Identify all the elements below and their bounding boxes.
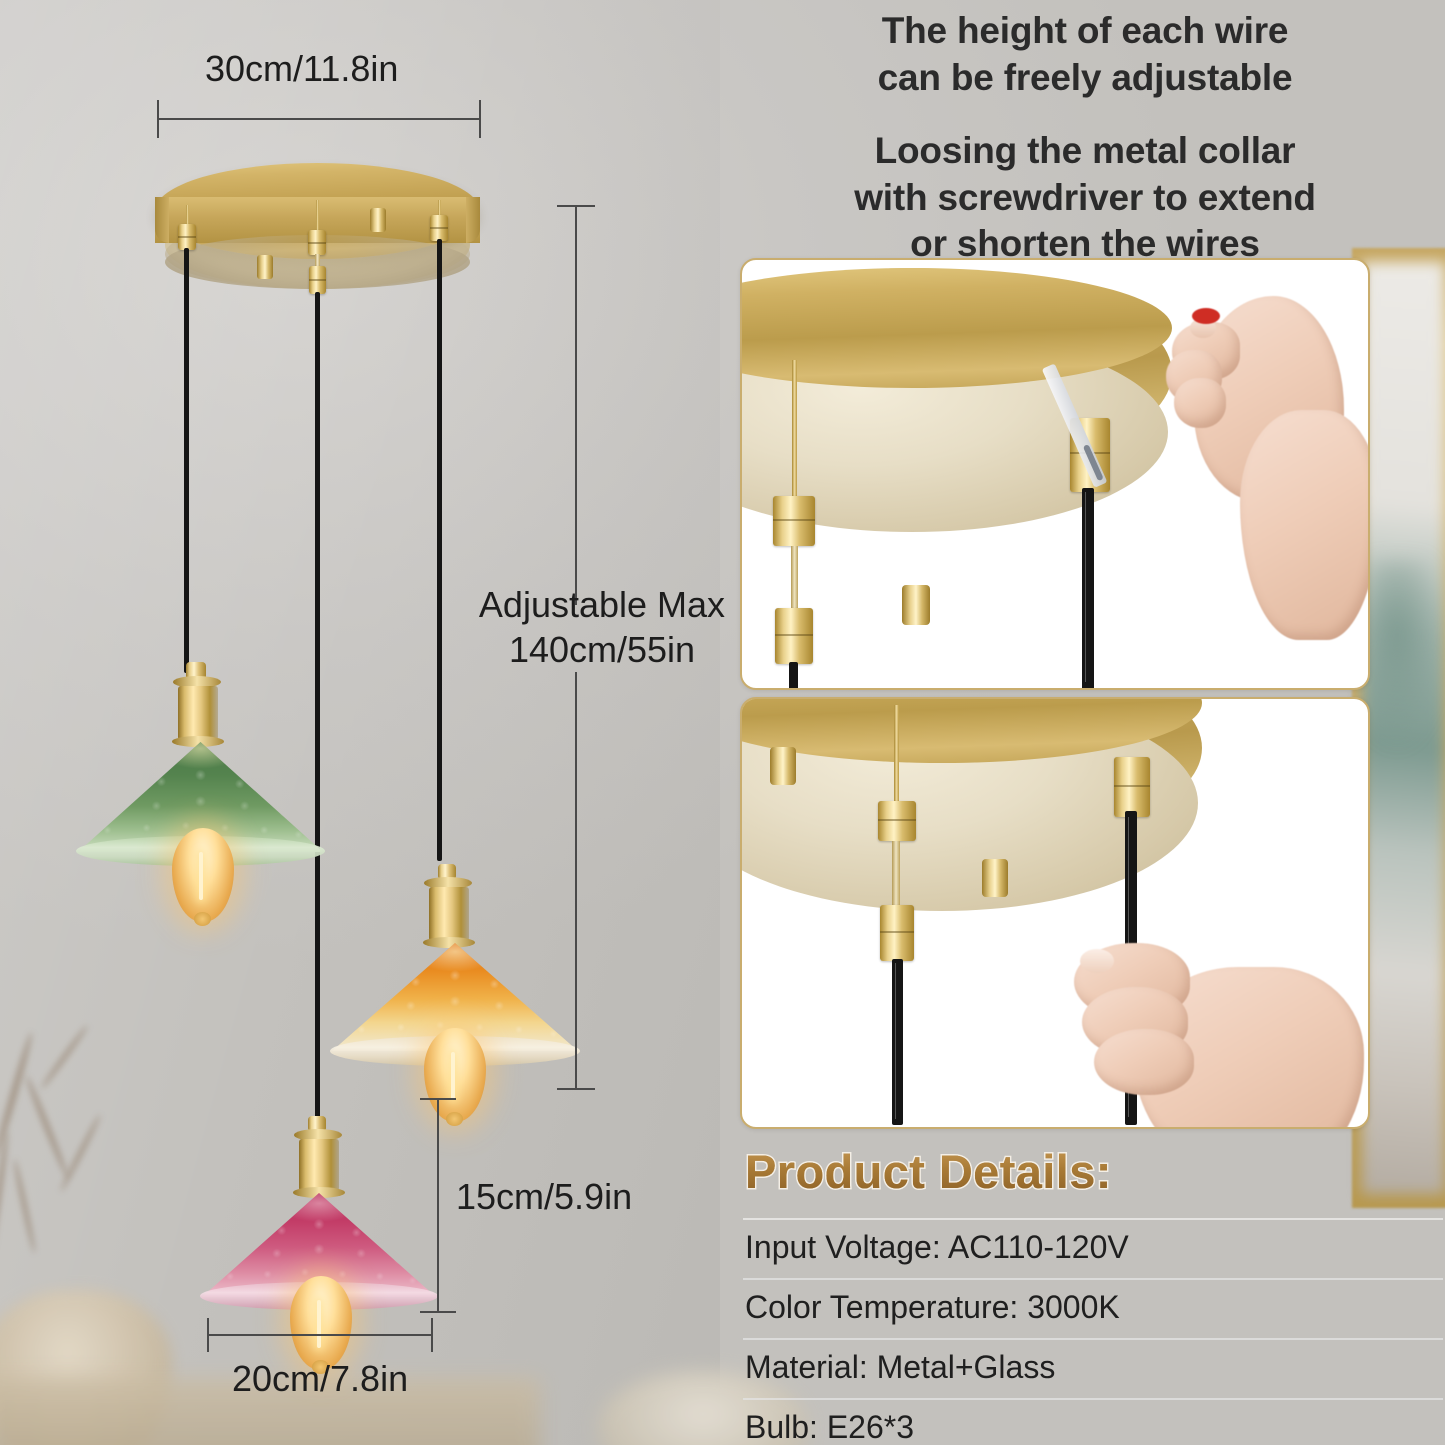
cord-green-shade [184,248,189,673]
edison-bulb-amber [424,1028,486,1122]
dimension-adjustable-max-label: Adjustable Max [462,582,742,627]
heading-secondary: Loosing the metal collar with screwdrive… [735,128,1435,268]
dimension-canopy-width-label: 30cm/11.8in [205,48,398,90]
heading-line-4: with screwdriver to extend [735,175,1435,222]
dimension-adjustable-line-upper [575,205,577,605]
heading-line-2: can be freely adjustable [735,55,1435,102]
dimension-drop-tick-bottom [420,1311,456,1313]
dimension-canopy-width-line [157,118,481,120]
pink-glass-shade [190,1118,470,1368]
dimension-adjustable-tick-top [557,205,595,207]
heading-line-1: The height of each wire [735,8,1435,55]
product-detail-row-bulb: Bulb: E26*3 [743,1398,1443,1445]
heading-line-3: Loosing the metal collar [735,128,1435,175]
dimension-drop-tick-top [420,1098,456,1100]
dimension-adjustable-max-value: 140cm/55in [462,627,742,672]
cord-amber-shade [437,239,442,861]
green-glass-shade [68,660,348,910]
product-detail-row-voltage: Input Voltage: AC110-120V [743,1218,1443,1280]
product-detail-row-material: Material: Metal+Glass [743,1338,1443,1400]
dimension-adjustable-line-lower [575,672,577,1090]
dimension-adjustable-max-block: Adjustable Max 140cm/55in [462,582,742,672]
product-detail-row-color-temp: Color Temperature: 3000K [743,1278,1443,1340]
dimension-drop-line [437,1098,439,1313]
dimension-adjustable-tick-bottom [557,1088,595,1090]
dimension-shade-width-tick-left [207,1318,209,1352]
infographic-canvas: The height of each wire can be freely ad… [0,0,1445,1445]
dimension-shade-drop-label: 15cm/5.9in [456,1176,632,1218]
dimension-shade-width-label: 20cm/7.8in [232,1358,408,1400]
dimension-shade-width-tick-right [431,1318,433,1352]
amber-glass-shade [340,860,620,1110]
dimension-canopy-width-tick-right [479,100,481,138]
instruction-panel-pull-wire [740,697,1370,1129]
framed-artwork-accent [1366,560,1444,750]
dimension-canopy-width-tick-left [157,100,159,138]
dimension-shade-width-line [207,1334,433,1336]
product-details-title: Product Details: [745,1144,1112,1199]
heading-primary: The height of each wire can be freely ad… [735,8,1435,101]
edison-bulb-pink [290,1276,352,1370]
edison-bulb-green [172,828,234,922]
instruction-panel-screwdriver [740,258,1370,690]
